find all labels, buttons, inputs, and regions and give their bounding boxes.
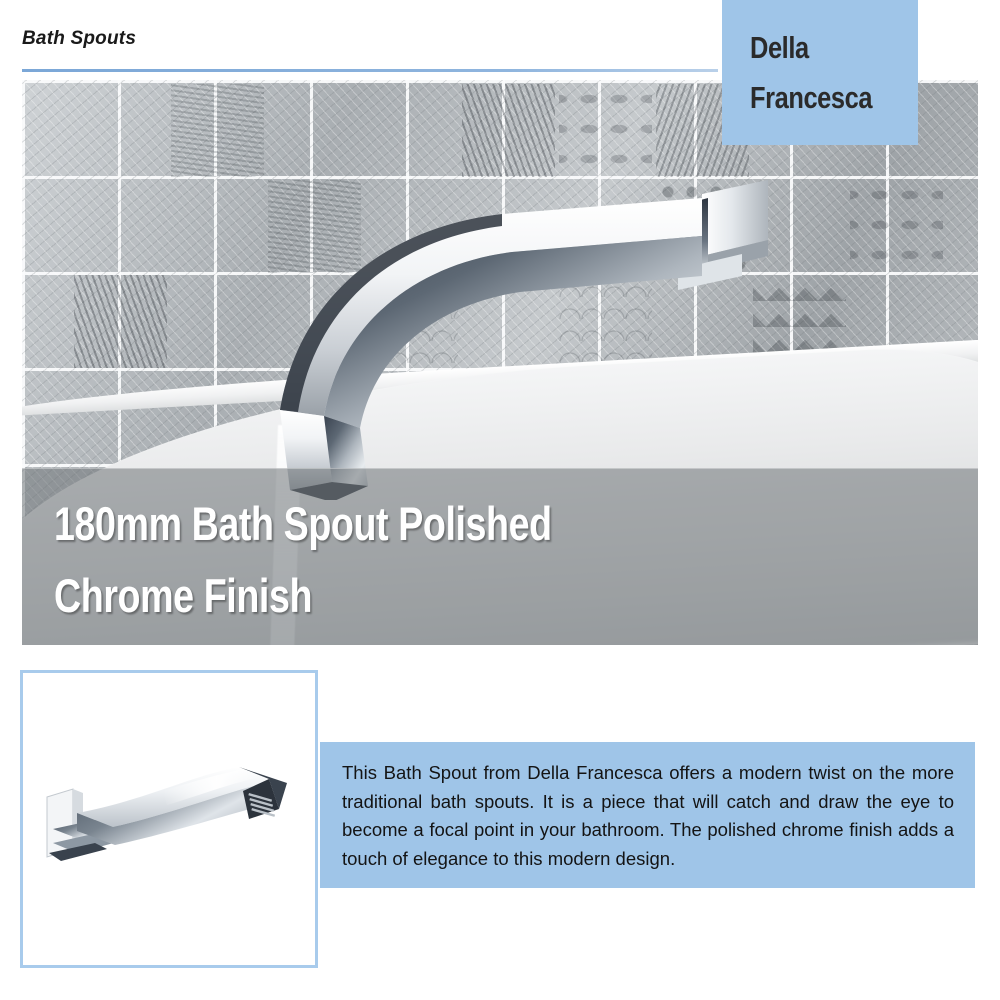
brand-badge: Della Francesca — [722, 0, 918, 145]
brand-name-line-1: Della — [750, 30, 809, 66]
product-description-panel: This Bath Spout from Della Francesca off… — [320, 742, 975, 888]
hero-product-image: 180mm Bath Spout Polished Chrome Finish — [22, 80, 978, 645]
product-thumbnail-box — [20, 670, 318, 968]
header-divider — [22, 69, 718, 72]
tile-pattern-zigzag-icon — [74, 275, 167, 368]
tile-pattern-leaf-icon — [850, 180, 943, 273]
hero-caption-text: 180mm Bath Spout Polished Chrome Finish — [54, 488, 630, 632]
brand-name-line-2: Francesca — [750, 80, 872, 116]
product-description-text: This Bath Spout from Della Francesca off… — [342, 759, 954, 873]
product-thumbnail-image — [25, 675, 313, 963]
bath-spout-chrome — [202, 110, 782, 500]
page-title: Bath Spouts — [22, 28, 136, 50]
bath-spout-product-render — [43, 757, 305, 887]
